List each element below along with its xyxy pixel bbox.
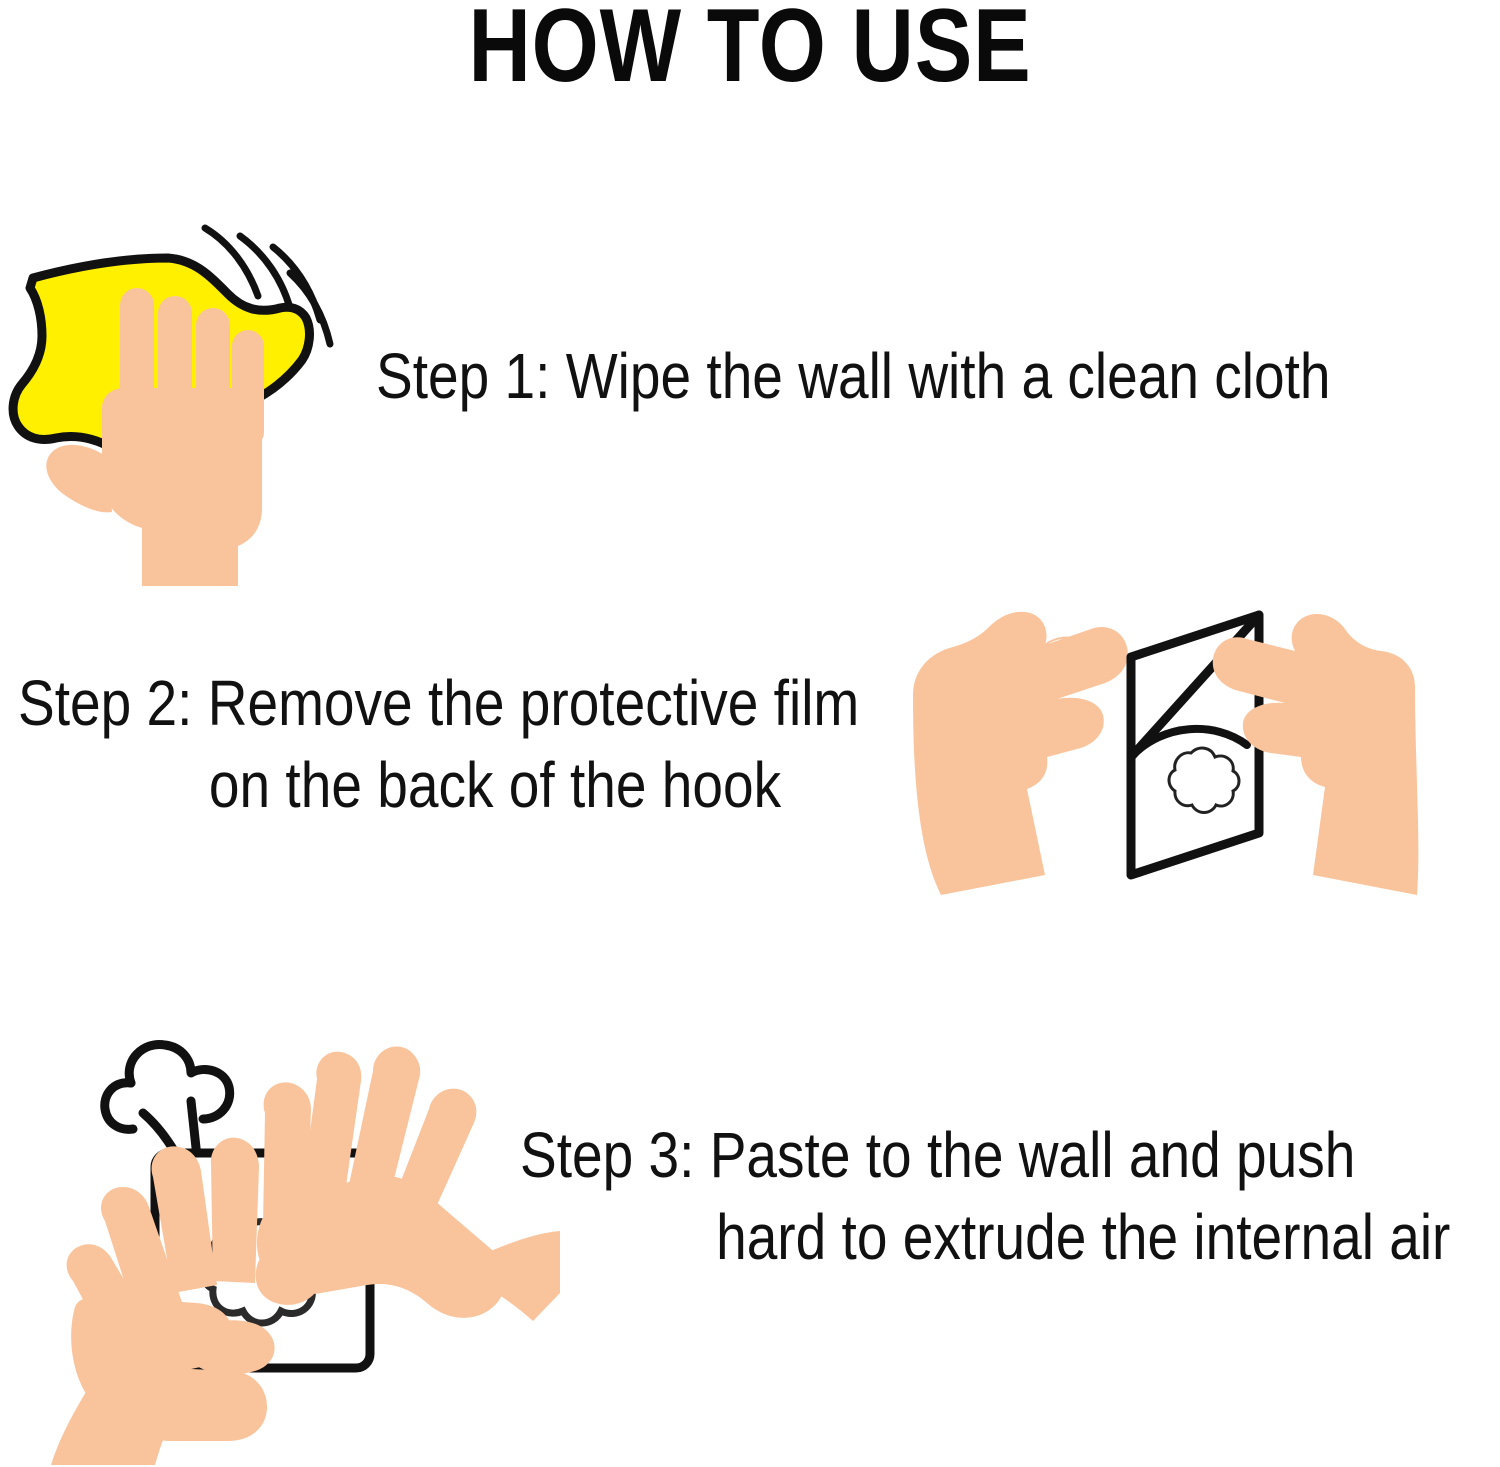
step-1-illustration — [0, 108, 370, 598]
page-title: HOW TO USE — [128, 0, 1373, 98]
step-3-illustration — [15, 1035, 560, 1465]
step-3-line-1: Step 3: Paste to the wall and push — [520, 1115, 1450, 1197]
step-3-caption: Step 3: Paste to the wall and push hard … — [520, 1115, 1450, 1279]
left-pinching-hand — [913, 612, 1128, 895]
step-1-caption: Step 1: Wipe the wall with a clean cloth — [376, 336, 1331, 418]
step-2-line-1: Step 2: Remove the protective film — [18, 663, 859, 745]
step-2-caption: Step 2: Remove the protective film on th… — [18, 663, 859, 827]
right-palm — [256, 1046, 560, 1321]
flower-logo — [1169, 748, 1239, 812]
step-2-line-2: on the back of the hook — [18, 745, 859, 827]
step-3-line-2: hard to extrude the internal air — [520, 1197, 1450, 1279]
step-2-illustration — [895, 575, 1435, 920]
step-1-line-1: Step 1: Wipe the wall with a clean cloth — [376, 336, 1331, 418]
